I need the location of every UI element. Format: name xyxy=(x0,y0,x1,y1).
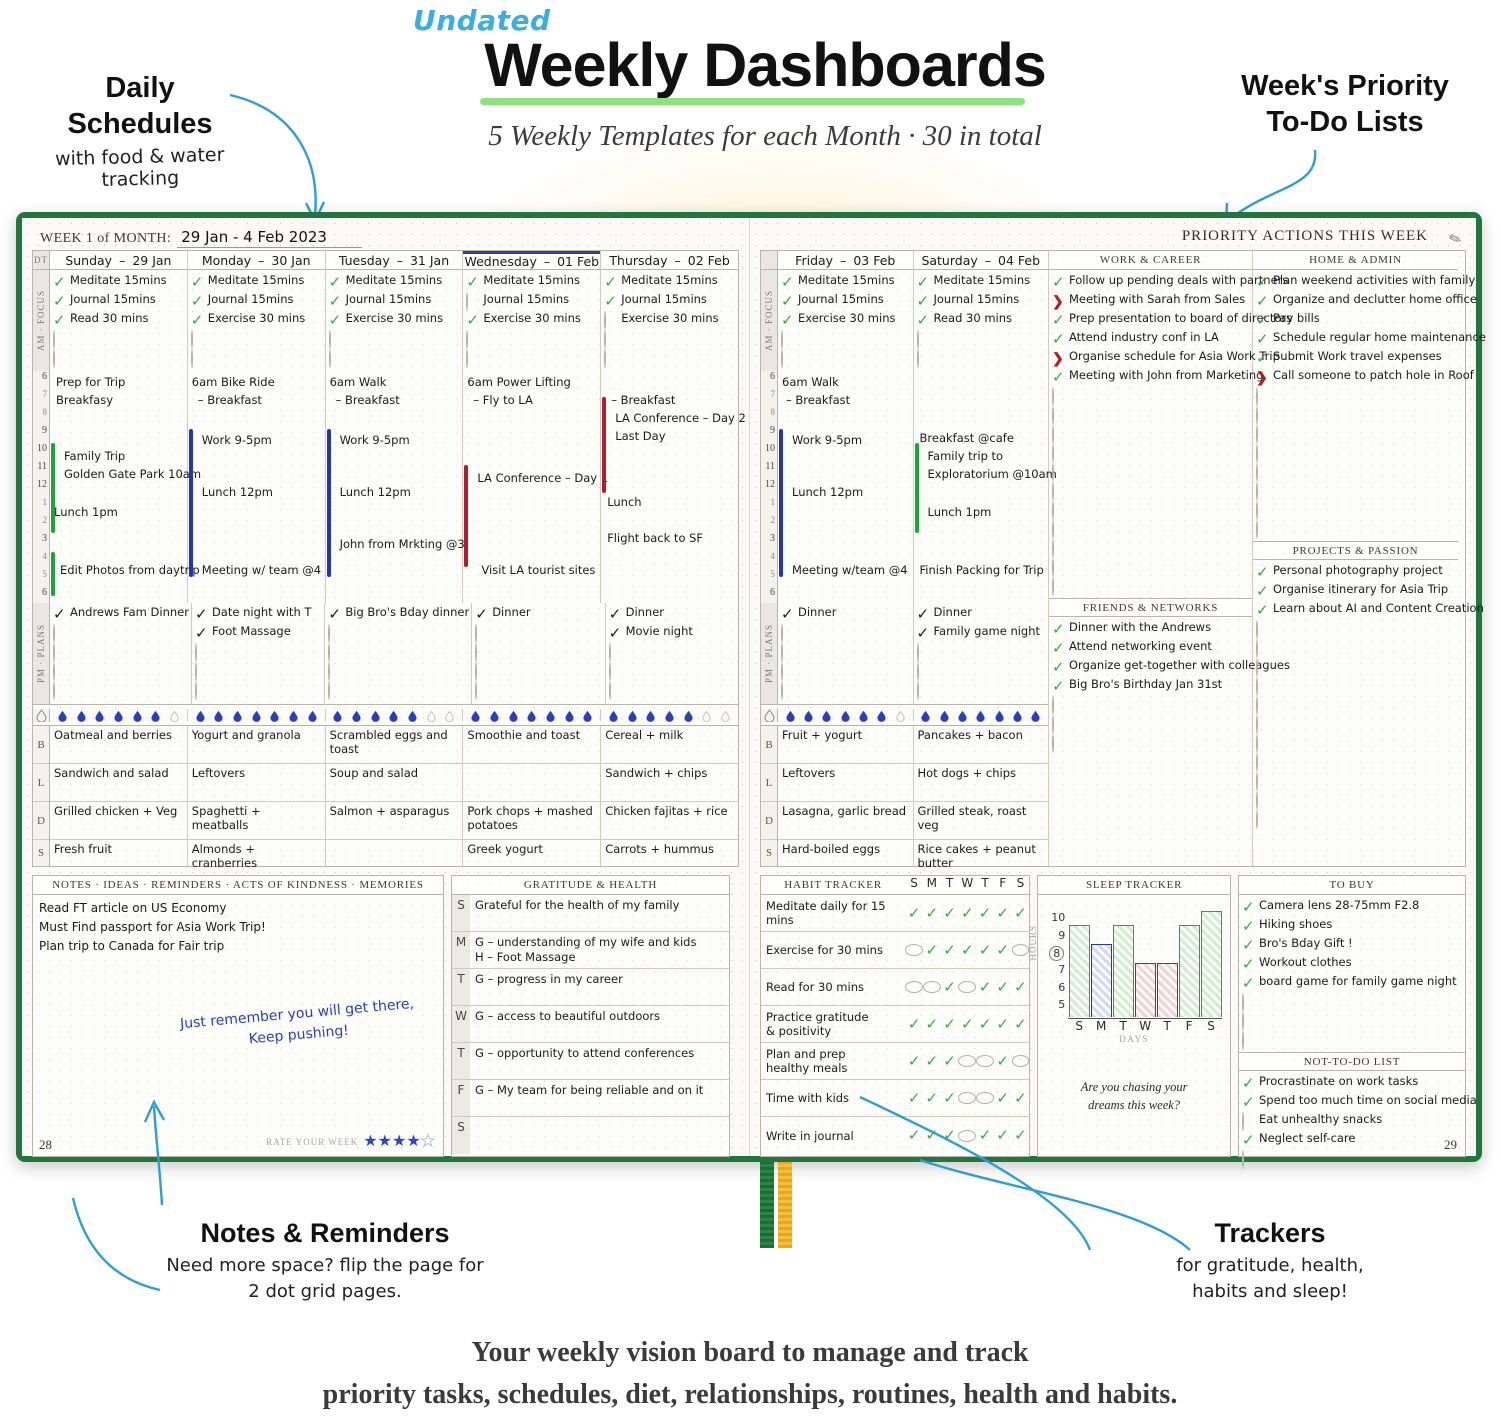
schedule-event[interactable]: Lunch xyxy=(607,495,641,509)
list-item[interactable]: ✓Procrastinate on work tasks xyxy=(1242,1074,1463,1093)
day-schedule[interactable]: 6am Walk– BreakfastWork 9-5pmLunch 12pmM… xyxy=(778,371,914,603)
projects-passion-list[interactable]: ✓Personal photography project✓Organise i… xyxy=(1253,560,1458,831)
list-item[interactable]: ✓Journal 15mins xyxy=(781,292,911,311)
checkbox-empty[interactable] xyxy=(53,350,66,363)
meal-cell[interactable]: Leftovers xyxy=(188,764,325,802)
day-meals[interactable]: Smoothie and toastPork chops + mashed po… xyxy=(463,726,601,866)
check-icon[interactable]: ✓ xyxy=(781,606,794,619)
water-drop[interactable] xyxy=(58,709,67,721)
checkbox-empty[interactable] xyxy=(1256,773,1269,786)
check-icon[interactable]: ✓ xyxy=(195,625,208,638)
schedule-event[interactable]: – Breakfast xyxy=(336,393,400,407)
checkbox-empty[interactable] xyxy=(1256,426,1269,439)
water-drop[interactable] xyxy=(252,709,261,721)
check-icon[interactable]: ✓ xyxy=(466,274,479,287)
list-item[interactable]: ✓Organize and declutter home office xyxy=(1256,292,1456,311)
check-icon[interactable]: ✓ xyxy=(1012,1092,1030,1104)
water-drop[interactable] xyxy=(646,709,655,721)
checkbox-empty[interactable] xyxy=(976,1055,994,1067)
schedule-event[interactable]: Flight back to SF xyxy=(607,531,703,545)
water-drop[interactable] xyxy=(427,709,436,721)
water-drop[interactable] xyxy=(527,709,536,721)
list-item[interactable] xyxy=(1256,810,1456,829)
friends-networks-list[interactable]: ✓Dinner with the Andrews✓Attend networki… xyxy=(1049,617,1252,755)
list-item[interactable]: ✓Movie night xyxy=(609,624,736,643)
water-drop[interactable] xyxy=(133,709,142,721)
list-item[interactable] xyxy=(1256,772,1456,791)
check-icon[interactable]: ✓ xyxy=(917,312,930,325)
list-item[interactable]: ✓Foot Massage xyxy=(195,624,322,643)
day-meals[interactable]: Pancakes + baconHot dogs + chipsGrilled … xyxy=(914,726,1049,866)
list-item[interactable] xyxy=(781,681,911,700)
check-icon[interactable]: ✓ xyxy=(466,312,479,325)
check-icon[interactable]: ✓ xyxy=(923,1130,941,1142)
check-icon[interactable]: ✓ xyxy=(994,1055,1012,1067)
list-item[interactable] xyxy=(1052,558,1250,577)
water-day-cell[interactable] xyxy=(778,709,914,721)
check-icon[interactable]: ✓ xyxy=(475,606,488,619)
check-icon[interactable]: ✓ xyxy=(941,1130,959,1142)
list-item[interactable] xyxy=(328,624,469,643)
list-item[interactable] xyxy=(1052,715,1250,734)
schedule-event[interactable]: Lunch 12pm xyxy=(340,485,411,499)
schedule-event[interactable]: LA Conference – Day 2 xyxy=(615,411,746,425)
check-icon[interactable]: ✓ xyxy=(905,1092,923,1104)
check-icon[interactable]: ✓ xyxy=(1052,369,1065,382)
list-item[interactable] xyxy=(1052,539,1250,558)
list-item[interactable] xyxy=(1256,696,1456,715)
check-icon[interactable]: ✓ xyxy=(917,606,930,619)
meal-cell[interactable]: Yogurt and granola xyxy=(188,726,325,764)
meal-cell[interactable]: Chicken fajitas + rice xyxy=(601,802,738,840)
schedule-event[interactable]: 6am Walk xyxy=(330,375,387,389)
checkbox-empty[interactable] xyxy=(781,625,794,638)
check-icon[interactable]: ✓ xyxy=(905,1019,923,1030)
list-item[interactable]: ✓Meeting with John from Marketing xyxy=(1052,368,1250,387)
checkbox-empty[interactable] xyxy=(958,981,976,993)
am-focus-list[interactable]: ✓Meditate 15minsJournal 15mins✓Exercise … xyxy=(463,270,600,370)
checkbox-empty[interactable] xyxy=(1052,464,1065,477)
meal-cell[interactable]: Pork chops + mashed potatoes xyxy=(463,802,600,840)
check-icon[interactable]: ✓ xyxy=(917,625,930,638)
checkbox-empty[interactable] xyxy=(604,312,617,325)
gratitude-text[interactable]: G – progress in my career xyxy=(470,969,628,1005)
list-item[interactable] xyxy=(1052,696,1250,715)
gratitude-text[interactable]: G – access to beautiful outdoors xyxy=(470,1006,665,1042)
list-item[interactable] xyxy=(609,643,736,662)
checkbox-empty[interactable] xyxy=(781,331,794,344)
checkbox-empty[interactable] xyxy=(1052,483,1065,496)
schedule-event[interactable]: Meeting w/ team @4 xyxy=(202,563,321,577)
water-drop[interactable] xyxy=(995,709,1004,721)
checkbox-empty[interactable] xyxy=(53,331,66,344)
list-item[interactable]: ✓board game for family game night xyxy=(1242,974,1463,993)
checkbox-empty[interactable] xyxy=(1242,1113,1255,1126)
pm-plans-list[interactable]: ✓Big Bro's Bday dinner xyxy=(325,603,471,702)
checkbox-empty[interactable] xyxy=(195,644,208,657)
water-drop[interactable] xyxy=(471,709,480,721)
water-drop[interactable] xyxy=(151,709,160,721)
list-item[interactable]: ✓Read 30 mins xyxy=(917,311,1047,330)
list-item[interactable]: ✓Workout clothes xyxy=(1242,955,1463,974)
checkbox-empty[interactable] xyxy=(1256,811,1269,824)
check-icon[interactable]: ✓ xyxy=(941,1092,959,1104)
water-drop[interactable] xyxy=(408,709,417,721)
list-item[interactable] xyxy=(329,349,461,368)
list-item[interactable] xyxy=(604,349,736,368)
checkbox-empty[interactable] xyxy=(1256,678,1269,691)
schedule-event[interactable]: Family trip to xyxy=(928,449,1004,463)
checkbox-empty[interactable] xyxy=(917,350,930,363)
check-icon[interactable]: ✓ xyxy=(604,293,617,306)
list-item[interactable] xyxy=(1256,387,1456,406)
checkbox-empty[interactable] xyxy=(191,331,204,344)
am-focus-list[interactable]: ✓Meditate 15mins✓Journal 15mins✓Exercise… xyxy=(188,270,325,370)
checkbox-empty[interactable] xyxy=(781,350,794,363)
list-item[interactable]: ✓Attend industry conf in LA xyxy=(1052,330,1250,349)
list-item[interactable]: ✓Family game night xyxy=(917,624,1047,643)
schedule-event[interactable]: Lunch 1pm xyxy=(54,505,118,519)
list-item[interactable]: Exercise 30 mins xyxy=(604,311,736,330)
list-item[interactable]: ✓Attend networking event xyxy=(1052,639,1250,658)
checkbox-empty[interactable] xyxy=(1052,445,1065,458)
check-icon[interactable]: ✓ xyxy=(1052,331,1065,344)
water-day-cell[interactable] xyxy=(601,709,738,721)
check-icon[interactable]: ✓ xyxy=(1052,312,1065,325)
check-icon[interactable]: ✓ xyxy=(781,274,794,287)
list-item[interactable] xyxy=(195,662,322,681)
meal-cell[interactable]: Soup and salad xyxy=(326,764,463,802)
water-drop[interactable] xyxy=(609,709,618,721)
water-drop[interactable] xyxy=(859,709,868,721)
checkbox-empty[interactable] xyxy=(1012,1055,1030,1067)
day-schedule[interactable]: Breakfast @cafeFamily trip toExploratori… xyxy=(914,371,1049,603)
pm-plans-list[interactable]: ✓Dinner xyxy=(778,603,913,702)
water-drop[interactable] xyxy=(445,709,454,721)
list-item[interactable]: ✓Meditate 15mins xyxy=(604,273,736,292)
day-schedule[interactable]: Prep for TripBreakfasyFamily TripGolden … xyxy=(50,371,188,603)
day-schedule[interactable]: 6am Walk– BreakfastWork 9-5pmLunch 12pmJ… xyxy=(326,371,464,603)
list-item[interactable] xyxy=(1256,482,1456,501)
habit-row[interactable]: Time with kids✓✓✓✓✓ xyxy=(761,1080,1029,1117)
gratitude-row[interactable]: TG – progress in my career xyxy=(452,969,729,1006)
checkbox-empty[interactable] xyxy=(1256,502,1269,515)
water-drop[interactable] xyxy=(371,709,380,721)
checkbox-empty[interactable] xyxy=(781,682,794,695)
habit-marks[interactable]: ✓✓✓✓✓✓✓ xyxy=(905,908,1029,919)
list-item[interactable] xyxy=(1256,753,1456,772)
checkbox-empty[interactable] xyxy=(976,1092,994,1104)
check-icon[interactable]: ✓ xyxy=(329,274,342,287)
notes-panel[interactable]: NOTES · IDEAS · REMINDERS · ACTS OF KIND… xyxy=(32,875,444,1157)
checkbox-empty[interactable] xyxy=(53,682,66,695)
checkbox-empty[interactable] xyxy=(1256,716,1269,729)
water-drop[interactable] xyxy=(308,709,317,721)
list-item[interactable]: ✓Journal 15mins xyxy=(917,292,1047,311)
checkbox-empty[interactable] xyxy=(958,1055,976,1067)
list-item[interactable]: ✓Journal 15mins xyxy=(329,292,461,311)
check-icon[interactable]: ✓ xyxy=(994,1019,1012,1030)
checkbox-empty[interactable] xyxy=(1052,559,1065,572)
check-icon[interactable]: ✓ xyxy=(1256,564,1269,577)
list-item[interactable] xyxy=(1256,463,1456,482)
checkbox-empty[interactable] xyxy=(1256,640,1269,653)
check-icon[interactable]: ✓ xyxy=(53,606,66,619)
habit-tracker-panel[interactable]: HABIT TRACKER SMTWTFS Meditate daily for… xyxy=(760,875,1030,1157)
water-drop[interactable] xyxy=(958,709,967,721)
day-schedule[interactable]: – BreakfastLA Conference – Day 2Last Day… xyxy=(601,371,738,603)
check-icon[interactable]: ✓ xyxy=(609,606,622,619)
water-drop[interactable] xyxy=(583,709,592,721)
check-icon[interactable]: ✓ xyxy=(941,981,959,993)
schedule-event[interactable]: Breakfasy xyxy=(56,393,113,407)
meal-cell[interactable]: Grilled chicken + Veg xyxy=(50,802,187,840)
list-item[interactable]: ✓Exercise 30 mins xyxy=(466,311,598,330)
gratitude-text[interactable]: G – My team for being reliable and on it xyxy=(470,1080,708,1116)
list-item[interactable] xyxy=(1052,577,1250,596)
check-icon[interactable]: ✓ xyxy=(1242,1094,1255,1107)
schedule-event[interactable]: Finish Packing for Trip xyxy=(920,563,1044,577)
check-icon[interactable]: ✓ xyxy=(1052,274,1065,287)
list-item[interactable]: ✓Hiking shoes xyxy=(1242,917,1463,936)
meal-cell[interactable]: Hot dogs + chips xyxy=(914,764,1049,802)
check-icon[interactable]: ✓ xyxy=(976,1130,994,1142)
checkbox-empty[interactable] xyxy=(917,663,930,676)
list-item[interactable]: ✓Andrews Fam Dinner xyxy=(53,605,189,624)
list-item[interactable] xyxy=(1256,620,1456,639)
checkbox-empty[interactable] xyxy=(1052,426,1065,439)
check-icon[interactable]: ✓ xyxy=(1242,975,1255,988)
check-icon[interactable]: ✓ xyxy=(958,1019,976,1030)
list-item[interactable]: ✓Journal 15mins xyxy=(191,292,323,311)
checkbox-empty[interactable] xyxy=(958,1130,976,1142)
list-item[interactable] xyxy=(475,624,602,643)
list-item[interactable] xyxy=(917,643,1047,662)
check-icon[interactable]: ✓ xyxy=(604,274,617,287)
list-item[interactable] xyxy=(1052,444,1250,463)
am-focus-list[interactable]: ✓Meditate 15mins✓Journal 15mins✓Read 30 … xyxy=(914,270,1049,370)
check-icon[interactable]: ✓ xyxy=(1052,659,1065,672)
list-item[interactable]: ✓Organize get-together with colleagues xyxy=(1052,658,1250,677)
meal-cell[interactable]: Spaghetti + meatballs xyxy=(188,802,325,840)
list-item[interactable]: ❯Meeting with Sarah from Sales xyxy=(1052,292,1250,311)
check-icon[interactable]: ✓ xyxy=(923,908,941,919)
list-item[interactable]: ✓Camera lens 28-75mm F2.8 xyxy=(1242,898,1463,917)
check-icon[interactable]: ✓ xyxy=(329,312,342,325)
check-icon[interactable]: ✓ xyxy=(609,625,622,638)
check-icon[interactable]: ✓ xyxy=(1012,1130,1030,1142)
list-item[interactable] xyxy=(328,681,469,700)
list-item[interactable] xyxy=(466,349,598,368)
water-drop[interactable] xyxy=(95,709,104,721)
meal-cell[interactable]: Grilled steak, roast veg xyxy=(914,802,1049,840)
schedule-event[interactable]: 6am Bike Ride xyxy=(192,375,275,389)
check-icon[interactable]: ✓ xyxy=(1256,602,1269,615)
habit-row[interactable]: Exercise for 30 mins✓✓✓✓✓ xyxy=(761,932,1029,969)
checkbox-empty[interactable] xyxy=(1256,792,1269,805)
checkbox-empty[interactable] xyxy=(781,663,794,676)
water-drop[interactable] xyxy=(352,709,361,721)
water-drop[interactable] xyxy=(1031,709,1040,721)
habit-rows[interactable]: Meditate daily for 15 mins✓✓✓✓✓✓✓Exercis… xyxy=(761,895,1029,1154)
day-header[interactable]: Friday–03 Feb xyxy=(778,251,913,270)
water-drop[interactable] xyxy=(196,709,205,721)
list-item[interactable] xyxy=(475,662,602,681)
schedule-event[interactable]: – Breakfast xyxy=(786,393,850,407)
checkbox-empty[interactable] xyxy=(1242,994,1255,1007)
list-item[interactable] xyxy=(1052,387,1250,406)
list-item[interactable] xyxy=(195,643,322,662)
water-day-cell[interactable] xyxy=(326,709,464,721)
day-header[interactable]: Sunday–29 Jan xyxy=(50,251,187,270)
am-focus-list[interactable]: ✓Meditate 15mins✓Journal 15mins✓Exercise… xyxy=(326,270,463,370)
checkbox-empty[interactable] xyxy=(604,331,617,344)
pm-plans-list[interactable]: ✓Dinner✓Family game night xyxy=(914,603,1049,702)
list-item[interactable] xyxy=(1256,734,1456,753)
work-career-list[interactable]: ✓Follow up pending deals with partners❯M… xyxy=(1049,270,1252,598)
check-icon[interactable]: ✓ xyxy=(976,981,994,993)
day-header[interactable]: Tuesday–31 Jan xyxy=(326,251,463,270)
water-drop[interactable] xyxy=(170,709,179,721)
checkbox-empty[interactable] xyxy=(1256,388,1269,401)
list-item[interactable]: ✓Follow up pending deals with partners xyxy=(1052,273,1250,292)
home-admin-list[interactable]: ✓Plan weekend activities with family✓Org… xyxy=(1253,270,1458,541)
list-item[interactable] xyxy=(328,662,469,681)
gratitude-row[interactable]: MG – understanding of my wife and kidsH … xyxy=(452,932,729,969)
checkbox-empty[interactable] xyxy=(1012,944,1030,956)
check-icon[interactable]: ✓ xyxy=(1242,1075,1255,1088)
list-item[interactable]: ✓Pay bills xyxy=(1256,311,1456,330)
water-day-cell[interactable] xyxy=(50,709,188,721)
checkbox-empty[interactable] xyxy=(328,682,341,695)
schedule-event[interactable]: Prep for Trip xyxy=(56,375,125,389)
meal-cell[interactable]: Hard-boiled eggs xyxy=(778,840,913,866)
checkbox-empty[interactable] xyxy=(328,644,341,657)
check-icon[interactable]: ✓ xyxy=(923,1092,941,1104)
checkbox-empty[interactable] xyxy=(475,663,488,676)
check-icon[interactable]: ✓ xyxy=(1256,312,1269,325)
check-icon[interactable]: ✓ xyxy=(1242,937,1255,950)
meal-cell[interactable] xyxy=(326,840,463,866)
list-item[interactable] xyxy=(1052,520,1250,539)
check-icon[interactable]: ✓ xyxy=(1012,1019,1030,1030)
list-item[interactable]: ✓Read 30 mins xyxy=(53,311,185,330)
list-item[interactable] xyxy=(1052,734,1250,753)
gratitude-text[interactable]: G – understanding of my wife and kidsH –… xyxy=(470,932,701,968)
meal-cell[interactable]: Lasagna, garlic bread xyxy=(778,802,913,840)
not-to-do-list[interactable]: ✓Procrastinate on work tasks✓Spend too m… xyxy=(1239,1071,1465,1171)
habit-row[interactable]: Practice gratitude& positivity✓✓✓✓✓✓✓ xyxy=(761,1006,1029,1043)
water-drop[interactable] xyxy=(665,709,674,721)
list-item[interactable] xyxy=(1052,406,1250,425)
check-icon[interactable]: ✓ xyxy=(941,908,959,919)
list-item[interactable]: ✓Learn about AI and Content Creation xyxy=(1256,601,1456,620)
list-item[interactable] xyxy=(1242,1012,1463,1031)
list-item[interactable] xyxy=(53,624,189,643)
meal-cell[interactable]: Sandwich and salad xyxy=(50,764,187,802)
day-header[interactable]: Wednesday–01 Feb xyxy=(463,251,600,270)
water-drop[interactable] xyxy=(214,709,223,721)
checkbox-empty[interactable] xyxy=(905,981,923,993)
check-icon[interactable]: ✓ xyxy=(1256,293,1269,306)
list-item[interactable] xyxy=(917,330,1047,349)
list-item[interactable] xyxy=(53,330,185,349)
check-icon[interactable]: ✓ xyxy=(905,1055,923,1067)
list-item[interactable]: ✓Meditate 15mins xyxy=(53,273,185,292)
list-item[interactable] xyxy=(609,681,736,700)
check-icon[interactable]: ✓ xyxy=(994,908,1012,919)
habit-marks[interactable]: ✓✓✓✓✓ xyxy=(905,944,1029,956)
list-item[interactable] xyxy=(329,330,461,349)
check-icon[interactable]: ✓ xyxy=(191,293,204,306)
checkbox-empty[interactable] xyxy=(1052,578,1065,591)
schedule-event[interactable]: Work 9-5pm xyxy=(202,433,272,447)
checkbox-empty[interactable] xyxy=(1256,735,1269,748)
checkbox-empty[interactable] xyxy=(917,331,930,344)
list-item[interactable] xyxy=(1052,501,1250,520)
list-item[interactable] xyxy=(1242,993,1463,1012)
list-item[interactable]: ✓Dinner xyxy=(475,605,602,624)
list-item[interactable]: ✓Neglect self-care xyxy=(1242,1131,1463,1150)
list-item[interactable] xyxy=(1256,639,1456,658)
checkbox-empty[interactable] xyxy=(923,981,941,993)
list-item[interactable]: ✓Meditate 15mins xyxy=(329,273,461,292)
week-date-range[interactable]: 29 Jan - 4 Feb 2023 xyxy=(177,228,362,248)
checkbox-empty[interactable] xyxy=(329,331,342,344)
list-item[interactable] xyxy=(1256,406,1456,425)
notes-body[interactable]: Read FT article on US EconomyMust Find p… xyxy=(33,895,443,960)
water-drop[interactable] xyxy=(1013,709,1022,721)
list-item[interactable]: ✓Meditate 15mins xyxy=(781,273,911,292)
habit-row[interactable]: Meditate daily for 15 mins✓✓✓✓✓✓✓ xyxy=(761,895,1029,932)
schedule-event[interactable]: – Breakfast xyxy=(198,393,262,407)
check-icon[interactable]: ✓ xyxy=(1052,640,1065,653)
arrow-icon[interactable]: ❯ xyxy=(1052,293,1065,306)
checkbox-empty[interactable] xyxy=(1256,754,1269,767)
check-icon[interactable]: ✓ xyxy=(994,981,1012,993)
checkbox-empty[interactable] xyxy=(328,625,341,638)
check-icon[interactable]: ✓ xyxy=(1242,956,1255,969)
meal-cell[interactable]: Leftovers xyxy=(778,764,913,802)
star-icon[interactable]: ★ xyxy=(392,1133,406,1150)
checkbox-empty[interactable] xyxy=(1052,407,1065,420)
schedule-event[interactable]: Last Day xyxy=(615,429,665,443)
list-item[interactable] xyxy=(781,330,911,349)
gratitude-text[interactable]: G – opportunity to attend conferences xyxy=(470,1043,699,1079)
gratitude-row[interactable]: TG – opportunity to attend conferences xyxy=(452,1043,729,1080)
list-item[interactable] xyxy=(781,349,911,368)
check-icon[interactable]: ✓ xyxy=(781,293,794,306)
day-meals[interactable]: Yogurt and granolaLeftoversSpaghetti + m… xyxy=(188,726,326,866)
schedule-event[interactable]: Exploratorium @10am xyxy=(928,467,1057,481)
meal-cell[interactable]: Rice cakes + peanut butter xyxy=(914,840,1049,866)
list-item[interactable] xyxy=(1256,715,1456,734)
checkbox-empty[interactable] xyxy=(191,350,204,363)
checkbox-empty[interactable] xyxy=(466,350,479,363)
gratitude-row[interactable]: SGrateful for the health of my family xyxy=(452,895,729,932)
list-item[interactable]: ✓Plan weekend activities with family xyxy=(1256,273,1456,292)
day-meals[interactable]: Oatmeal and berriesSandwich and saladGri… xyxy=(50,726,188,866)
water-drop[interactable] xyxy=(333,709,342,721)
list-item[interactable] xyxy=(1256,444,1456,463)
water-drop[interactable] xyxy=(702,709,711,721)
checkbox-empty[interactable] xyxy=(958,1092,976,1104)
habit-row[interactable]: Plan and prephealthy meals✓✓✓✓ xyxy=(761,1043,1029,1080)
star-icon[interactable]: ★ xyxy=(421,1133,435,1150)
list-item[interactable] xyxy=(604,330,736,349)
day-meals[interactable]: Fruit + yogurtLeftoversLasagna, garlic b… xyxy=(778,726,914,866)
list-item[interactable]: Journal 15mins xyxy=(466,292,598,311)
